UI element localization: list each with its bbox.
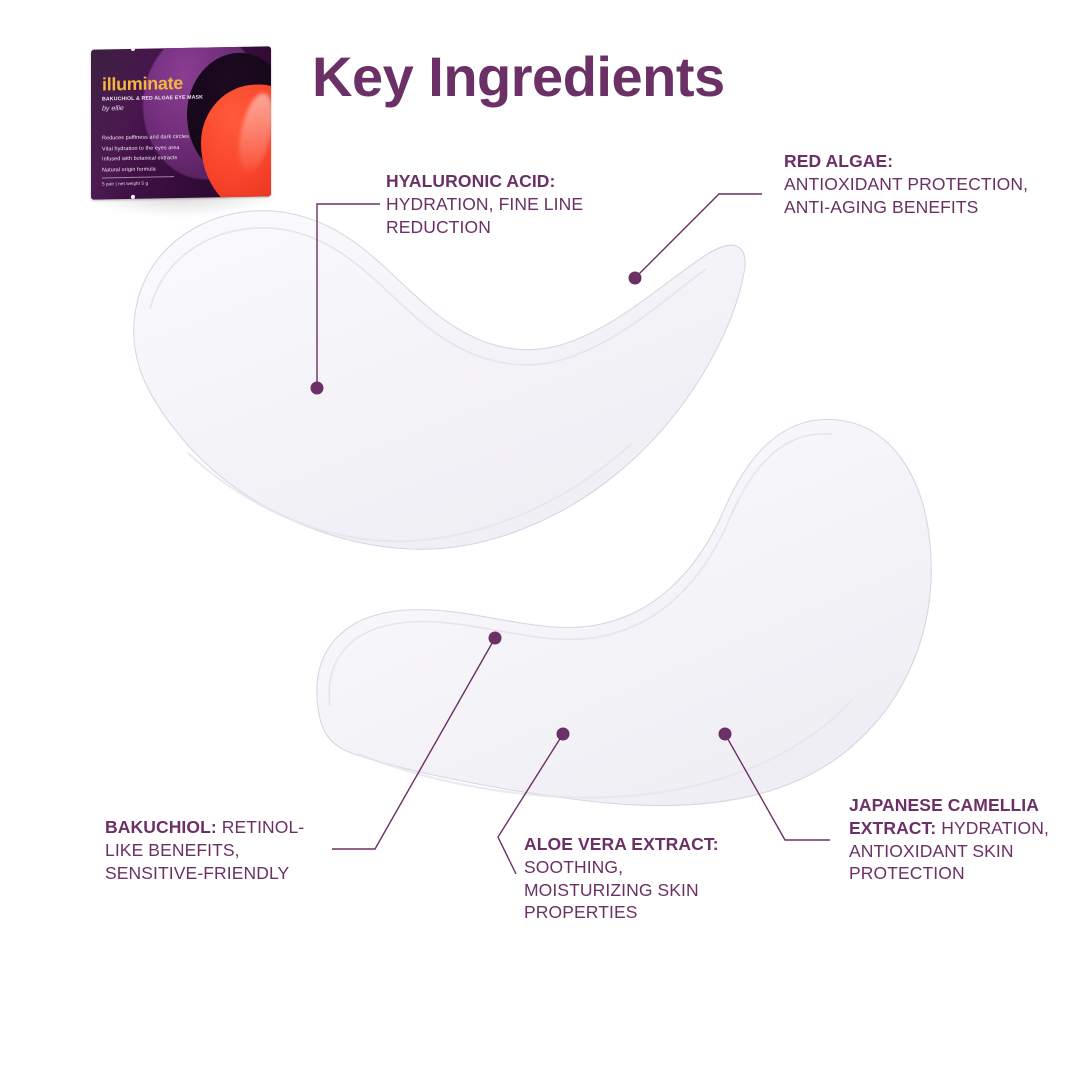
package-benefit-list: Reduces puffiness and dark circles Vital… (102, 131, 232, 176)
callout-bakuchiol: BAKUCHIOL: RETINOL-LIKE BENEFITS, SENSIT… (105, 816, 340, 884)
callout-label: BAKUCHIOL: (105, 817, 217, 837)
package-foil: illuminate BAKUCHIOL & RED ALGAE EYE MAS… (91, 46, 271, 199)
package-brand-name: illuminate (102, 74, 183, 94)
callout-japanese-camellia-extract: JAPANESE CAMELLIA EXTRACT: HYDRATION, AN… (849, 794, 1080, 885)
product-package-image: illuminate BAKUCHIOL & RED ALGAE EYE MAS… (91, 48, 271, 205)
callout-label: HYALURONIC ACID: (386, 170, 636, 193)
package-tear-notch-top (131, 47, 135, 51)
callout-label: RED ALGAE: (784, 150, 1034, 173)
callout-description: ANTIOXIDANT PROTECTION, ANTI-AGING BENEF… (784, 174, 1028, 217)
callout-label: ALOE VERA EXTRACT: (524, 833, 744, 856)
infographic-canvas: illuminate BAKUCHIOL & RED ALGAE EYE MAS… (0, 0, 1080, 1080)
callout-description: HYDRATION, FINE LINE REDUCTION (386, 194, 583, 237)
callout-description: SOOTHING, MOISTURIZING SKIN PROPERTIES (524, 857, 699, 923)
callout-aloe-vera-extract: ALOE VERA EXTRACT:SOOTHING, MOISTURIZING… (524, 833, 744, 924)
callout-hyaluronic-acid: HYALURONIC ACID:HYDRATION, FINE LINE RED… (386, 170, 636, 238)
callout-red-algae: RED ALGAE:ANTIOXIDANT PROTECTION, ANTI-A… (784, 150, 1034, 218)
eye-patch-lower (300, 388, 940, 808)
page-title: Key Ingredients (312, 48, 725, 107)
package-divider (102, 176, 174, 178)
package-byline: by ellie (102, 105, 124, 112)
